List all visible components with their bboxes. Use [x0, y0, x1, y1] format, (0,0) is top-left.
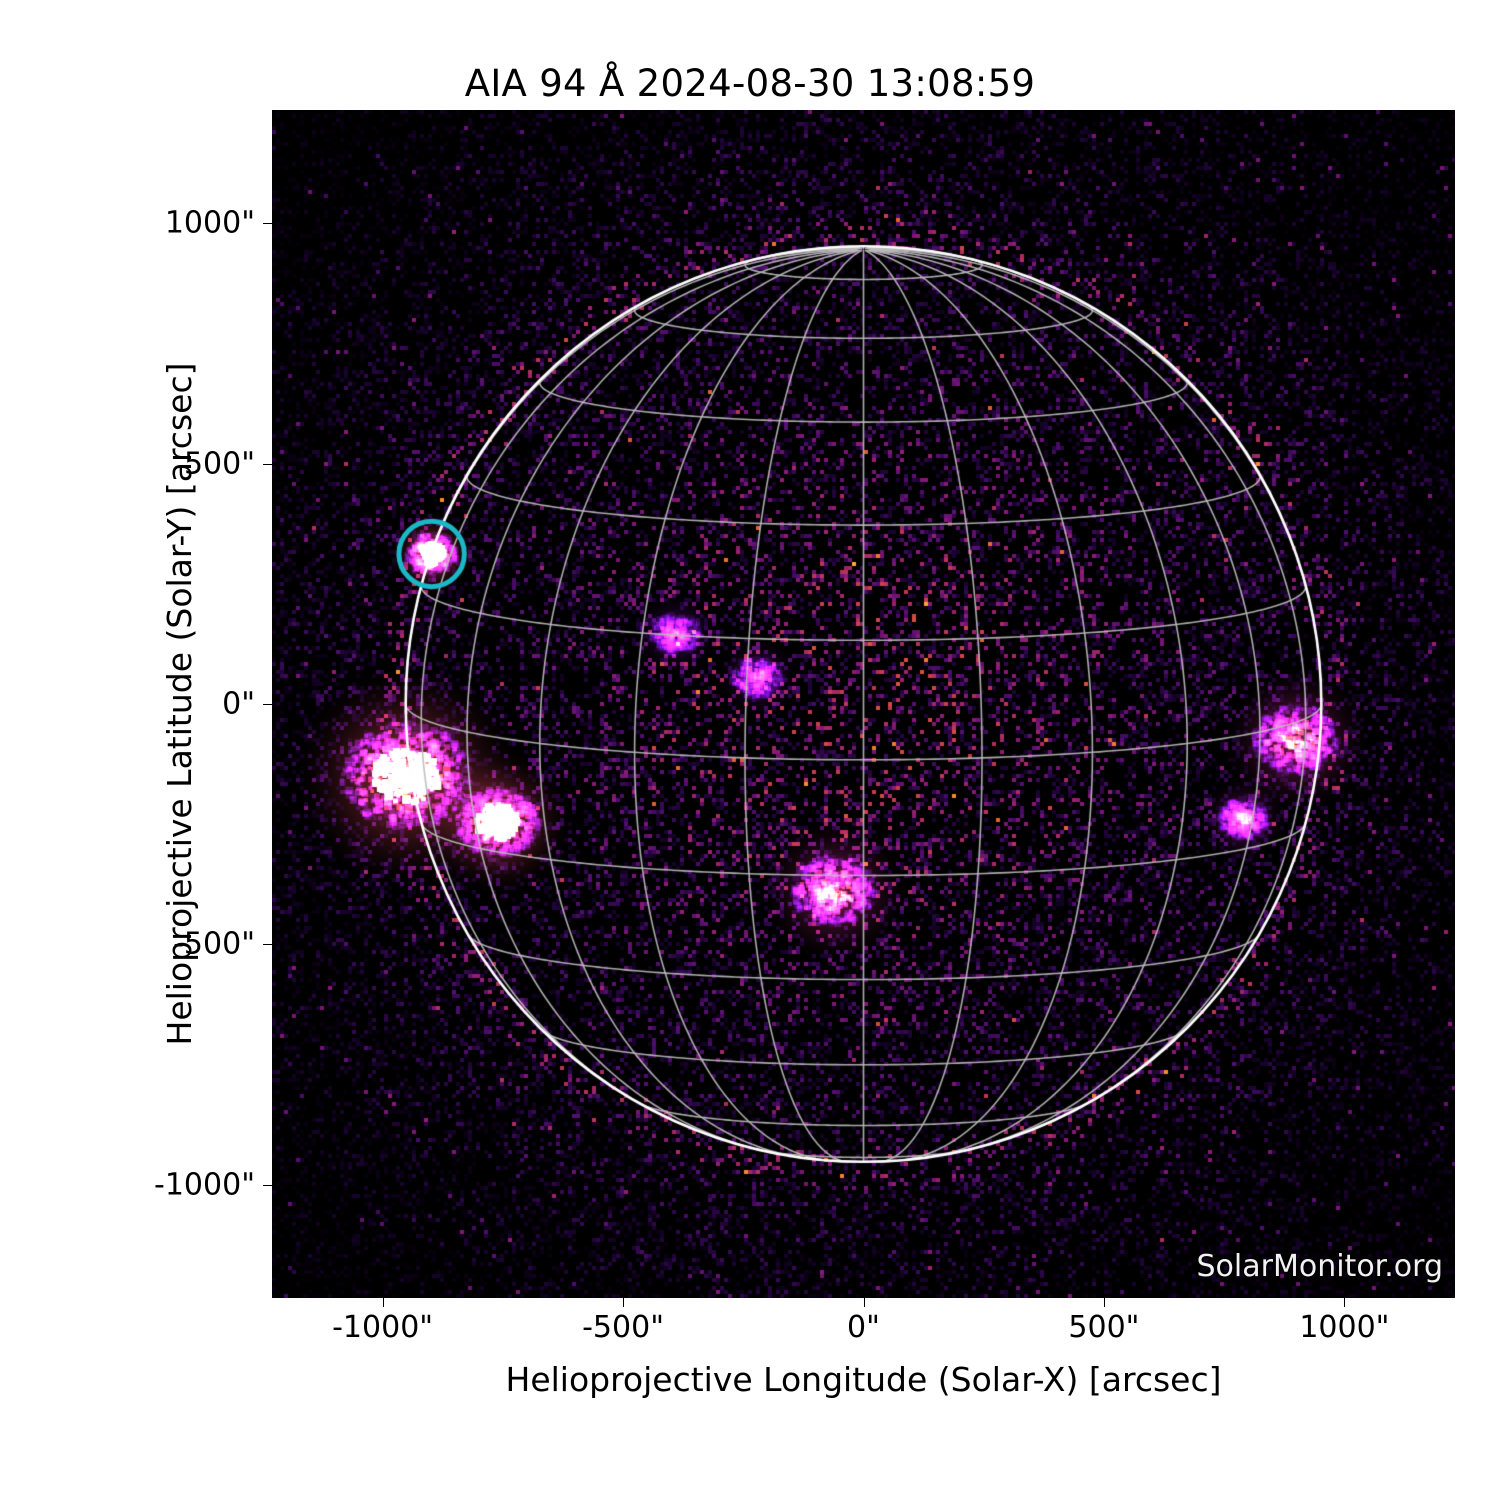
x-tick-label: 500" [1068, 1310, 1139, 1345]
solar-image-figure: AIA 94 Å 2024-08-30 13:08:59 SolarMonito… [0, 0, 1500, 1500]
x-tick-label: 1000" [1299, 1310, 1389, 1345]
y-tick [263, 944, 272, 945]
x-tick-label: -500" [582, 1310, 664, 1345]
x-tick [383, 1298, 384, 1307]
x-tick-label: 0" [847, 1310, 880, 1345]
y-axis-label: Helioprojective Latitude (Solar-Y) [arcs… [160, 110, 199, 1298]
x-tick [1104, 1298, 1105, 1307]
y-tick [263, 1185, 272, 1186]
y-tick [263, 464, 272, 465]
page-title: AIA 94 Å 2024-08-30 13:08:59 [0, 62, 1500, 105]
y-tick [263, 223, 272, 224]
x-tick [1344, 1298, 1345, 1307]
x-tick [864, 1298, 865, 1307]
x-tick [623, 1298, 624, 1307]
solar-image-axes[interactable]: SolarMonitor.org [272, 110, 1455, 1298]
solar-disk-image [272, 110, 1455, 1298]
x-tick-label: -1000" [332, 1310, 433, 1345]
y-tick [263, 704, 272, 705]
x-axis-label: Helioprojective Longitude (Solar-X) [arc… [272, 1360, 1455, 1399]
y-tick-label: 0" [222, 687, 255, 722]
